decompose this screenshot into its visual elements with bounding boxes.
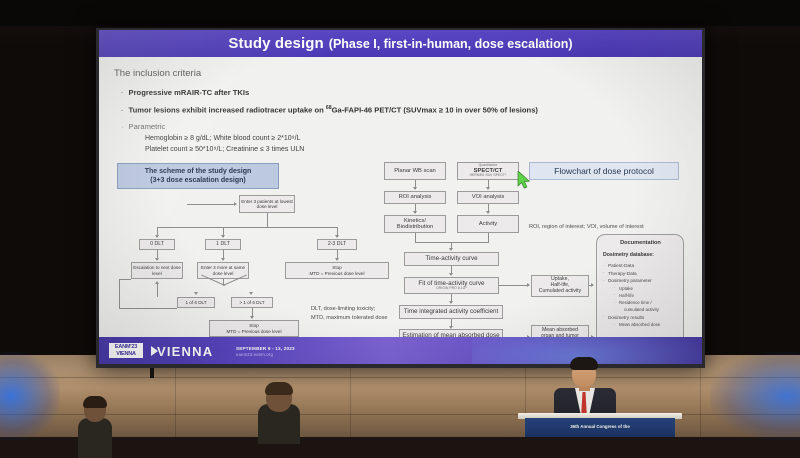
audience-hair	[83, 396, 107, 408]
bullet-parametric: ·Parametric	[121, 122, 165, 131]
flow-arrow	[155, 235, 159, 238]
flow-arrow	[449, 301, 453, 304]
flow-box-fit-time-activity-curve: Fit of time-activity curve ORIGIN PRO 8.…	[404, 277, 499, 294]
flow-box-time-activity-curve: Time-activity curve	[404, 252, 499, 266]
flow-line	[415, 242, 489, 243]
stage-light-right	[710, 352, 800, 440]
bullet-dot: ·	[121, 88, 124, 97]
box-label: VOI analysis	[472, 194, 505, 200]
flow-arrow	[249, 292, 253, 295]
parametric-line-2: Platelet count ≥ 50*10⁹/L; Creatinine ≤ …	[145, 146, 304, 153]
bullet-text: Parametric	[129, 122, 166, 131]
box-label: Time-activity curve	[425, 255, 477, 262]
documentation-subtitle: Dosimetry database:	[603, 252, 678, 258]
flow-line	[187, 204, 235, 205]
documentation-list: Patient-Data Therapy-Data Dosimetry para…	[603, 262, 678, 328]
dose-flowchart-title: Flowchart of dose protocol	[529, 162, 679, 180]
flow-box-stop-bottom: Stop MTD = Previous dose level	[209, 320, 299, 337]
city-label: VIENNA	[157, 344, 213, 359]
flow-box-kinetics-biodistribution: Kinetics/ Biodistribution	[384, 215, 446, 233]
doc-subitem: cumulated activity	[614, 306, 678, 313]
flow-box-quantitative-spect-ct: Quantitative SPECT/CT HERMES SUV SPECT*	[457, 162, 519, 180]
bullet-progressive: ·Progressive mRAIR-TC after TKIs	[121, 88, 249, 97]
audience-hair	[265, 382, 293, 395]
flow-box-planar-wb-scan: Planar WB scan	[384, 162, 446, 180]
box-label: Time integrated activity coefficient	[404, 308, 499, 315]
scheme-header-line2: (3+3 dose escalation design)	[150, 176, 246, 186]
flow-box-2-3-dlt: 2-3 DLT	[317, 239, 357, 250]
flow-arrow	[486, 187, 490, 190]
flow-arrow	[527, 283, 530, 287]
box-label-note: HERMES SUV SPECT*	[470, 174, 507, 178]
ceiling	[0, 0, 800, 26]
flowchart-title-label: Flowchart of dose protocol	[554, 166, 654, 176]
box-label: ROI analysis	[399, 194, 432, 200]
box-label: 1 of 6 DLT	[185, 300, 206, 305]
eanm-logo-line1: EANM'23	[109, 344, 143, 351]
flow-arrow	[221, 258, 225, 261]
bullet-text-post: Ga-FAPI-46 PET/CT (SUVmax ≥ 10 in over 5…	[332, 106, 538, 115]
flow-arrow	[194, 292, 198, 295]
doc-sublist: Uptake Half-life Residence time / cumula…	[608, 285, 678, 314]
doc-item-label: Dosimetry parameter	[608, 278, 652, 283]
bullet-text: Progressive mRAIR-TC after TKIs	[129, 88, 250, 97]
flow-arrow	[591, 283, 594, 287]
box-label-line2: MTD = Previous dose level	[226, 329, 281, 334]
inclusion-criteria-heading: The inclusion criteria	[114, 68, 201, 79]
slide-body: The inclusion criteria ·Progressive mRAI…	[99, 57, 702, 337]
flow-box-roi-analysis: ROI analysis	[384, 191, 446, 204]
flow-arrow	[449, 273, 453, 276]
parametric-line-1: Hemoglobin ≥ 8 g/dL; White blood count ≥…	[145, 135, 300, 142]
doc-item: Therapy-Data	[603, 270, 678, 278]
doc-item-label: Dosimetry results	[608, 315, 644, 320]
flow-line	[157, 227, 337, 228]
doc-subitem: Half-life	[614, 292, 678, 299]
slide-title: Study design	[228, 35, 323, 52]
flow-box-1-dlt: 1 DLT	[205, 239, 241, 250]
flow-line	[488, 233, 489, 242]
box-label: Enter 3 more at same dose level	[198, 265, 248, 275]
doc-item: Patient-Data	[603, 262, 678, 270]
box-label-line2: Biodistribution	[397, 224, 433, 230]
flow-line	[157, 283, 158, 297]
box-label: 2-3 DLT	[328, 242, 346, 248]
flow-box-voi-analysis: VOI analysis	[457, 191, 519, 204]
scheme-header-line1: The scheme of the study design	[145, 167, 252, 177]
doc-sublist: Mean absorbed dose	[608, 321, 678, 328]
flow-arrow	[335, 258, 339, 261]
box-label: 1 DLT	[216, 242, 230, 248]
green-arrow-cursor-icon	[517, 171, 531, 189]
flow-box-stop-top: Stop MTD = Previous dose level	[285, 262, 389, 279]
eanm-logo: EANM'23 VIENNA	[109, 343, 143, 358]
bullet-tumor-lesions: ·Tumor lesions exhibit increased radiotr…	[121, 105, 538, 115]
doc-subitem: Residence time /	[614, 299, 678, 306]
flow-box-enter-3-patients: Enter 3 patients at lowest dose level	[239, 195, 295, 213]
flow-arrow-up	[155, 281, 159, 284]
box-label: Enter 3 patients at lowest dose level	[240, 199, 294, 209]
flow-line	[119, 279, 131, 280]
box-label: Activity	[479, 221, 497, 227]
audience-member	[258, 384, 300, 437]
box-label-note: ORIGIN PRO 8.1G*	[436, 287, 467, 291]
doc-item: Dosimetry results Mean absorbed dose	[603, 314, 678, 329]
doc-item: Dosimetry parameter Uptake Half-life Res…	[603, 277, 678, 313]
presentation-slide: Study design (Phase I, first-in-human, d…	[99, 30, 702, 364]
box-label: > 1 of 6 DLT	[239, 300, 264, 305]
flow-box-1-of-6-dlt: 1 of 6 DLT	[177, 297, 215, 308]
bullet-dot: ·	[121, 122, 124, 131]
flow-line	[119, 279, 120, 308]
audience-body	[78, 418, 112, 458]
flow-arrow	[234, 202, 237, 206]
eanm-logo-line2: VIENNA	[109, 351, 143, 358]
wall-seam	[0, 377, 800, 378]
presenter-hair	[570, 357, 598, 370]
flow-arrow	[250, 316, 254, 319]
flow-line	[119, 308, 177, 309]
doc-subitem: Mean absorbed dose	[614, 321, 678, 328]
bullet-text-pre: Tumor lesions exhibit increased radiotra…	[129, 106, 326, 115]
flow-arrow	[486, 211, 490, 214]
flow-box-0-dlt: 0 DLT	[139, 239, 175, 250]
box-label: 0 DLT	[150, 242, 164, 248]
flow-line	[415, 233, 416, 242]
congress-dates: SEPTEMBER 9 - 13, 2023	[236, 346, 295, 351]
podium-text: 36th Annual Congress of the	[534, 424, 666, 430]
slide-title-bar: Study design (Phase I, first-in-human, d…	[99, 30, 702, 57]
flow-arrow	[155, 258, 159, 261]
flow-arrow	[413, 211, 417, 214]
slide-subtitle: (Phase I, first-in-human, dose escalatio…	[329, 37, 573, 51]
box-label-line2: MTD = Previous dose level	[309, 271, 364, 276]
box-label: Escalation to next dose level	[132, 265, 182, 275]
flow-arrow	[221, 235, 225, 238]
scheme-legend-line1: DLT, dose-limiting toxicity;	[311, 305, 375, 314]
stage-light-left	[0, 352, 60, 440]
flow-line	[499, 285, 529, 286]
flow-box-activity: Activity	[457, 215, 519, 233]
flow-box-time-integrated-activity-coefficient: Time integrated activity coefficient	[399, 305, 503, 319]
audience-member	[78, 398, 112, 437]
flow-box-escalation: Escalation to next dose level	[131, 262, 183, 279]
flow-box-more-than-1-of-6: > 1 of 6 DLT	[231, 297, 273, 308]
flow-line	[267, 213, 268, 227]
dose-flow-legend: ROI, region of interest; VOI, volume of …	[529, 223, 644, 232]
screen-support	[150, 368, 154, 378]
flow-box-uptake-halflife-cumulated: Uptake, Half-life, Cumulated activity	[531, 275, 589, 297]
scheme-header: The scheme of the study design (3+3 dose…	[117, 163, 279, 189]
scheme-legend-line2: MTD, maximum tolerated dose	[311, 314, 387, 323]
box-label-line3: Cumulated activity	[539, 289, 581, 295]
flow-arrow	[335, 235, 339, 238]
conference-room-photo: Study design (Phase I, first-in-human, d…	[0, 0, 800, 437]
congress-url: eanm23.eanm.org	[236, 352, 273, 357]
doc-subitem: Uptake	[614, 285, 678, 292]
bullet-dot: ·	[121, 106, 124, 115]
flow-arrow	[449, 248, 453, 251]
box-label: Planar WB scan	[394, 168, 436, 174]
documentation-panel: Documentation Dosimetry database: Patien…	[596, 234, 684, 346]
flow-arrow	[413, 187, 417, 190]
documentation-title: Documentation	[603, 240, 678, 246]
